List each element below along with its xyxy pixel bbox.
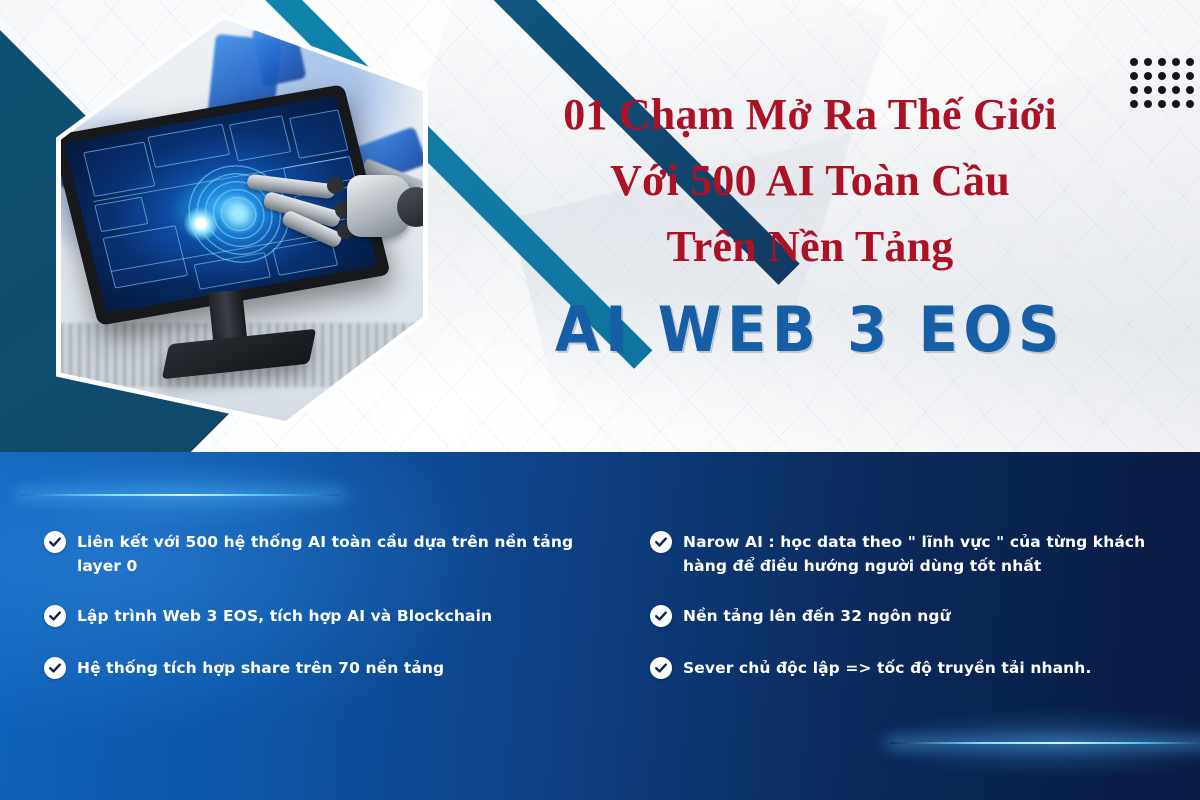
- feature-item: Narow AI : học data theo " lĩnh vực " củ…: [650, 530, 1190, 578]
- headline-line-2: Với 500 AI Toàn Cầu: [460, 148, 1160, 214]
- features-column-left: Liên kết với 500 hệ thống AI toàn cầu dự…: [44, 530, 584, 706]
- grid-dot: [1158, 58, 1166, 66]
- hud-panel: [229, 115, 292, 161]
- robot-knuckle: [327, 177, 344, 194]
- feature-text: Hệ thống tích hợp share trên 70 nền tảng: [77, 656, 444, 680]
- grid-dot: [1172, 58, 1180, 66]
- grid-dot: [1172, 72, 1180, 80]
- hero-section: 01 Chạm Mở Ra Thế Giới Với 500 AI Toàn C…: [0, 0, 1200, 452]
- robot-finger: [246, 174, 335, 200]
- feature-text: Nền tảng lên đến 32 ngôn ngữ: [683, 604, 951, 628]
- grid-dot: [1144, 58, 1152, 66]
- features-columns: Liên kết với 500 hệ thống AI toàn cầu dự…: [0, 452, 1200, 800]
- grid-dot: [1130, 72, 1138, 80]
- feature-item: Lập trình Web 3 EOS, tích hợp AI và Bloc…: [44, 604, 584, 628]
- hud-panel: [102, 225, 188, 288]
- grid-dot: [1186, 58, 1194, 66]
- features-column-right: Narow AI : học data theo " lĩnh vực " củ…: [650, 530, 1190, 706]
- feature-item: Sever chủ độc lập => tốc độ truyền tải n…: [650, 656, 1190, 680]
- feature-text: Lập trình Web 3 EOS, tích hợp AI và Bloc…: [77, 604, 492, 628]
- check-circle-icon: [650, 605, 672, 627]
- feature-text: Sever chủ độc lập => tốc độ truyền tải n…: [683, 656, 1091, 680]
- hud-panel: [94, 197, 148, 233]
- grid-dot: [1186, 100, 1194, 108]
- grid-dot: [1144, 72, 1152, 80]
- grid-dot: [1130, 58, 1138, 66]
- feature-item: Liên kết với 500 hệ thống AI toàn cầu dự…: [44, 530, 584, 578]
- grid-dot: [1186, 72, 1194, 80]
- robotic-hand: [247, 169, 419, 247]
- check-circle-icon: [650, 531, 672, 553]
- grid-dot: [1172, 86, 1180, 94]
- grid-dot: [1158, 72, 1166, 80]
- hud-panel: [289, 109, 349, 158]
- feature-item: Hệ thống tích hợp share trên 70 nền tảng: [44, 656, 584, 680]
- feature-text: Narow AI : học data theo " lĩnh vực " củ…: [683, 530, 1190, 578]
- grid-dot: [1186, 86, 1194, 94]
- headline-line-1: 01 Chạm Mở Ra Thế Giới: [460, 82, 1160, 148]
- feature-item: Nền tảng lên đến 32 ngôn ngữ: [650, 604, 1190, 628]
- check-circle-icon: [44, 657, 66, 679]
- hud-panel: [83, 142, 155, 197]
- grid-dot: [1172, 100, 1180, 108]
- brand-title: AI WEB 3 EOS: [485, 295, 1136, 365]
- check-circle-icon: [44, 605, 66, 627]
- check-circle-icon: [650, 657, 672, 679]
- headline-line-3: Trên Nền Tảng: [460, 214, 1160, 280]
- features-panel: Liên kết với 500 hệ thống AI toàn cầu dự…: [0, 452, 1200, 800]
- feature-text: Liên kết với 500 hệ thống AI toàn cầu dự…: [77, 530, 584, 578]
- promo-banner: 01 Chạm Mở Ra Thế Giới Với 500 AI Toàn C…: [0, 0, 1200, 800]
- headline-block: 01 Chạm Mở Ra Thế Giới Với 500 AI Toàn C…: [460, 82, 1160, 280]
- check-circle-icon: [44, 531, 66, 553]
